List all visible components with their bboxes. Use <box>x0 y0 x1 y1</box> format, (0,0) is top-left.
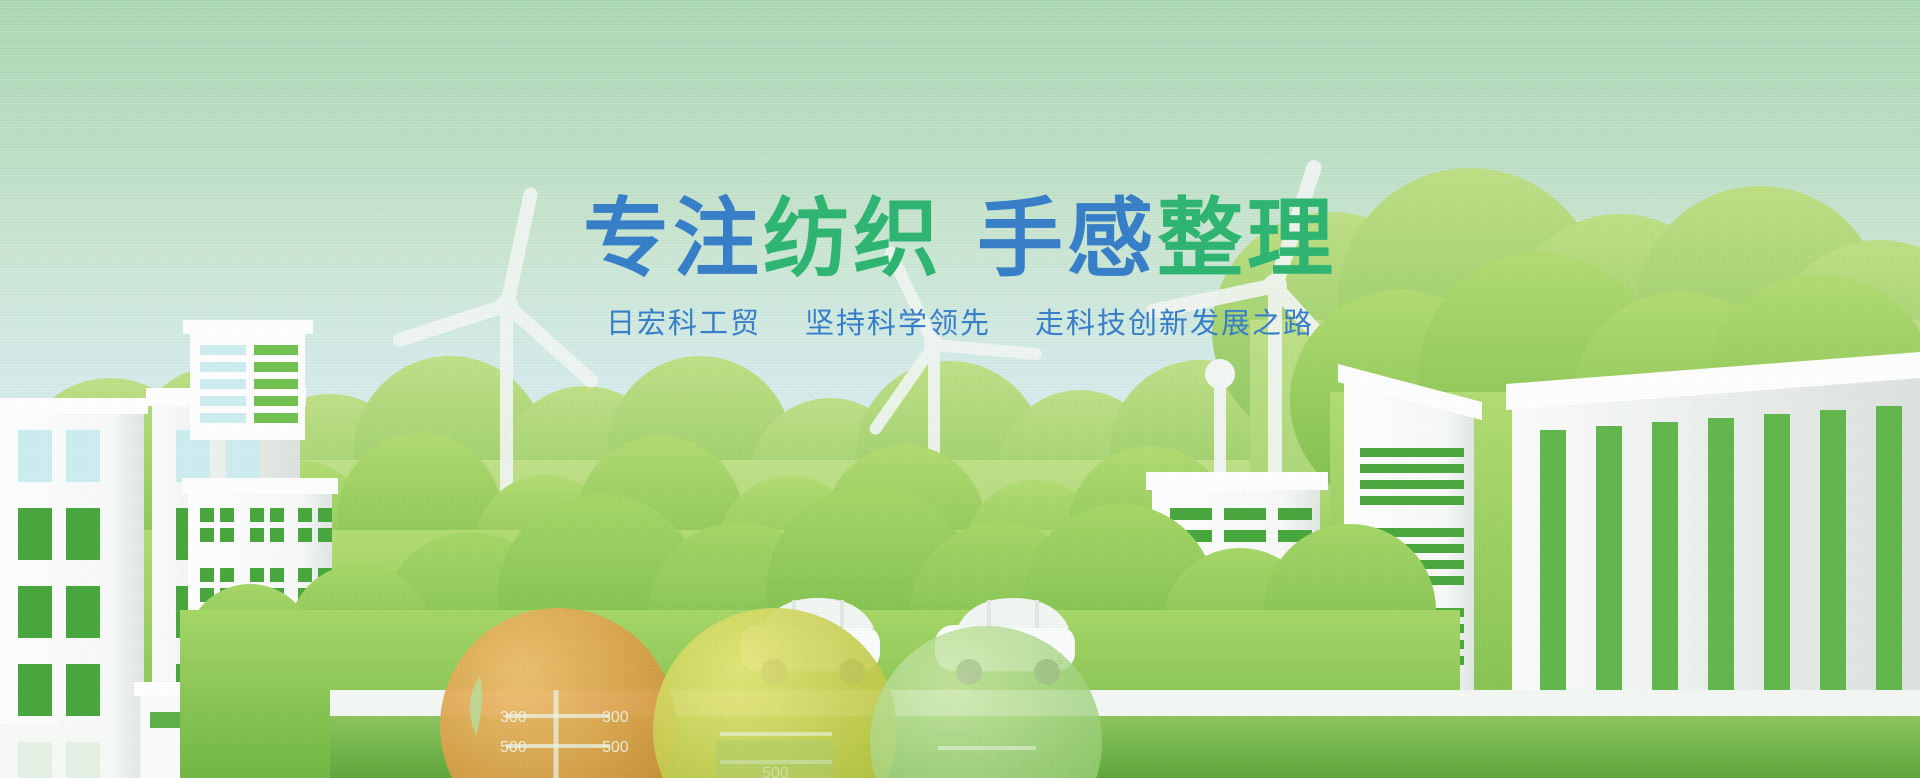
eco-city-banner: 300 300 500 500 500 专注纺织手感整理 日宏科工贸坚持科学领先… <box>0 0 1920 778</box>
headline-part1-green: 纺织 <box>763 191 943 287</box>
flask-green <box>870 626 1102 778</box>
subtitle-segment-2: 坚持科学领先 <box>805 308 991 340</box>
subtitle-segment-1: 日宏科工贸 <box>606 308 761 340</box>
svg-text:300: 300 <box>500 709 527 726</box>
laboratory-flask-layer: 300 300 500 500 500 <box>0 0 1920 778</box>
headline-part2-blue: 手感 <box>977 191 1157 287</box>
svg-text:300: 300 <box>602 709 629 726</box>
svg-text:500: 500 <box>602 739 629 756</box>
flask-olive: 500 <box>653 608 897 778</box>
foreground-white-block <box>0 724 100 778</box>
page-subtitle: 日宏科工贸坚持科学领先走科技创新发展之路 <box>0 310 1920 339</box>
flask-amber: 300 300 500 500 <box>440 608 676 778</box>
page-title: 专注纺织手感整理 <box>0 196 1920 282</box>
subtitle-segment-3: 走科技创新发展之路 <box>1035 308 1314 340</box>
svg-text:500: 500 <box>500 739 527 756</box>
headline-part1-blue: 专注 <box>583 191 763 287</box>
headline-part2-green: 整理 <box>1157 191 1337 287</box>
